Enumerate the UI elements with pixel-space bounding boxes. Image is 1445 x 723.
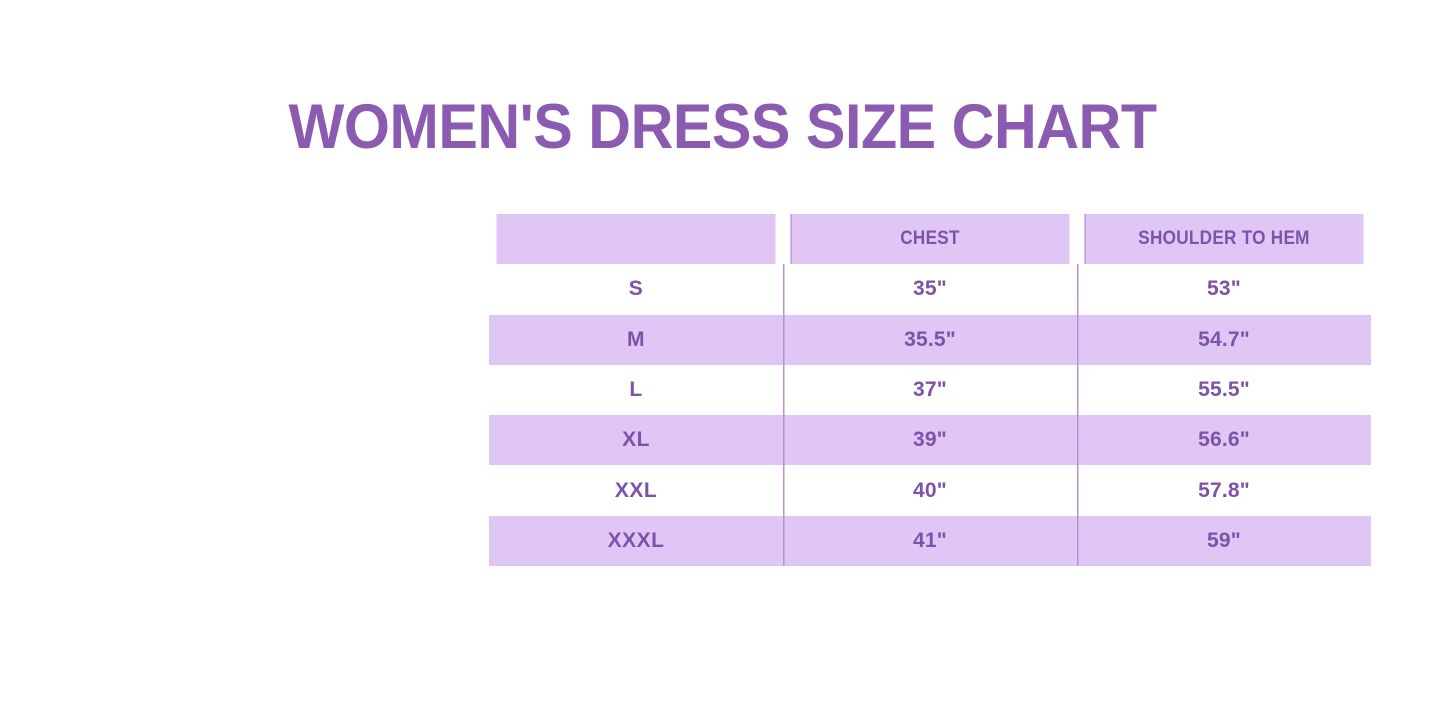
table-row: XXL 40" 57.8" <box>489 465 1371 515</box>
column-header-shoulder-to-hem: SHOULDER TO HEM <box>1084 214 1363 264</box>
table-row: S 35" 53" <box>489 264 1371 314</box>
cell-shoulder-to-hem: 54.7" <box>1077 315 1371 365</box>
column-header-size <box>496 214 775 264</box>
cell-chest: 35.5" <box>783 315 1077 365</box>
table-header: CHEST SHOULDER TO HEM <box>489 214 1371 264</box>
table-body: S 35" 53" M 35.5" 54.7" L 37" 55.5" XL 3… <box>489 264 1371 566</box>
cell-chest: 35" <box>783 264 1077 314</box>
cell-chest: 40" <box>783 465 1077 515</box>
column-header-chest-label: CHEST <box>797 228 1062 250</box>
cell-shoulder-to-hem: 56.6" <box>1077 415 1371 465</box>
table-row: XL 39" 56.6" <box>489 415 1371 465</box>
column-header-chest: CHEST <box>790 214 1069 264</box>
cell-size: XL <box>489 415 783 465</box>
size-chart-table-container: CHEST SHOULDER TO HEM S 35" 53" M 35.5" … <box>489 214 1371 566</box>
column-header-shoulder-to-hem-label: SHOULDER TO HEM <box>1091 228 1356 250</box>
table-row: L 37" 55.5" <box>489 365 1371 415</box>
size-chart-page: WOMEN'S DRESS SIZE CHART CHEST SHOULDER … <box>0 0 1445 723</box>
cell-chest: 37" <box>783 365 1077 415</box>
page-title: WOMEN'S DRESS SIZE CHART <box>43 96 1401 159</box>
cell-size: S <box>489 264 783 314</box>
cell-size: XXXL <box>489 516 783 566</box>
table-header-row: CHEST SHOULDER TO HEM <box>489 214 1371 264</box>
table-row: M 35.5" 54.7" <box>489 315 1371 365</box>
cell-shoulder-to-hem: 59" <box>1077 516 1371 566</box>
cell-shoulder-to-hem: 57.8" <box>1077 465 1371 515</box>
table-row: XXXL 41" 59" <box>489 516 1371 566</box>
cell-shoulder-to-hem: 53" <box>1077 264 1371 314</box>
cell-size: L <box>489 365 783 415</box>
cell-size: XXL <box>489 465 783 515</box>
cell-size: M <box>489 315 783 365</box>
cell-chest: 41" <box>783 516 1077 566</box>
size-chart-table: CHEST SHOULDER TO HEM S 35" 53" M 35.5" … <box>489 214 1371 566</box>
cell-shoulder-to-hem: 55.5" <box>1077 365 1371 415</box>
cell-chest: 39" <box>783 415 1077 465</box>
